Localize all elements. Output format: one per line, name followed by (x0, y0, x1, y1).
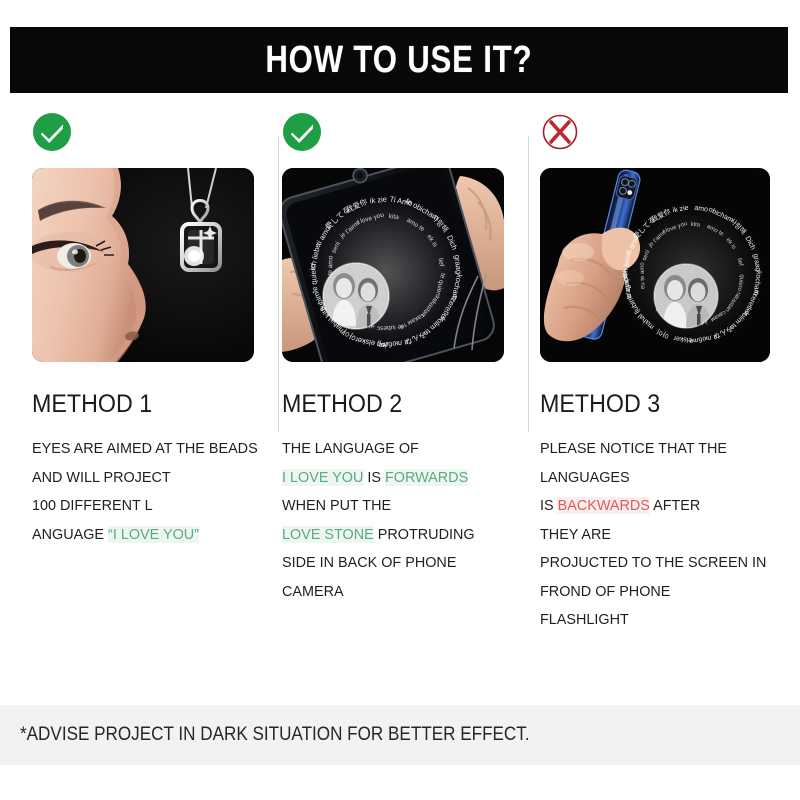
method-column-3: te quiero ich liebe ti amo 愛してる 我爱你 ik z… (516, 112, 800, 690)
plain-text: WHEN PUT THE (282, 497, 391, 514)
plain-text: THE LANGUAGE OF (282, 440, 419, 457)
header-banner: HOW TO USE IT? (10, 27, 788, 93)
photo-method-2: te quiero ich liebe ti amo 愛してる 我爱你 ik z… (282, 168, 504, 362)
method-text-line: PLEASE NOTICE THAT THE (540, 435, 790, 464)
plain-text: ANGUAGE (32, 526, 108, 543)
plain-text: IS (363, 469, 385, 486)
method-text-line: FROND OF PHONE (540, 578, 790, 607)
method-text-line: FLASHLIGHT (540, 606, 790, 635)
plain-text: CAMERA (282, 583, 344, 600)
method-column-2: te quiero ich liebe ti amo 愛してる 我爱你 ik z… (258, 112, 516, 690)
plain-text: IS (540, 497, 558, 514)
highlight-red-text: BACKWARDS (558, 497, 650, 514)
method-text-line: EYES ARE AIMED AT THE BEADS (32, 435, 249, 464)
svg-text:eu te amo: eu te amo (640, 262, 647, 290)
footer-note: *ADVISE PROJECT IN DARK SITUATION FOR BE… (20, 724, 530, 746)
method-3-title: METHOD 3 (540, 390, 782, 419)
photo-method-3: te quiero ich liebe ti amo 愛してる 我爱你 ik z… (540, 168, 770, 362)
photo-method-1 (32, 168, 254, 362)
method-2-lines: THE LANGUAGE OFI LOVE YOU IS FORWARDSWHE… (282, 435, 516, 606)
method-1-title: METHOD 1 (32, 390, 242, 419)
method-column-1: METHOD 1 EYES ARE AIMED AT THE BEADSAND … (0, 112, 258, 690)
plain-text: SIDE IN BACK OF PHONE (282, 554, 456, 571)
method-3-lines: PLEASE NOTICE THAT THELANGUAGESIS BACKWA… (540, 435, 800, 635)
infographic-page: HOW TO USE IT? (0, 0, 800, 800)
footer-banner: *ADVISE PROJECT IN DARK SITUATION FOR BE… (0, 705, 800, 765)
plain-text: 100 DIFFERENT L (32, 497, 153, 514)
method-text-line: WHEN PUT THE (282, 492, 507, 521)
plain-text: AFTER (650, 497, 700, 514)
method-text-line: IS BACKWARDS AFTER (540, 492, 790, 521)
plain-text: PROTRUDING (374, 526, 475, 543)
method-2-title: METHOD 2 (282, 390, 500, 419)
svg-text:lief: lief (436, 258, 444, 268)
highlight-green-text: FORWARDS (385, 469, 468, 486)
method-text-line: LANGUAGES (540, 464, 790, 493)
green-check-icon (32, 112, 72, 152)
page-title: HOW TO USE IT? (265, 39, 532, 82)
plain-text: PLEASE NOTICE THAT THE (540, 440, 727, 457)
method-text-line: THE LANGUAGE OF (282, 435, 507, 464)
svg-text:kita: kita (691, 222, 701, 229)
plain-text: EYES ARE AIMED AT THE BEADS (32, 440, 258, 457)
svg-text:ik zie: ik zie (369, 195, 387, 206)
method-text-line: I LOVE YOU IS FORWARDS (282, 464, 507, 493)
plain-text: AND WILL PROJECT (32, 469, 171, 486)
method-text-line: 100 DIFFERENT L (32, 492, 249, 521)
method-columns: METHOD 1 EYES ARE AIMED AT THE BEADSAND … (0, 112, 800, 690)
svg-text:kita: kita (388, 213, 399, 221)
red-x-icon (540, 112, 580, 152)
plain-text: LANGUAGES (540, 469, 630, 486)
plain-text: FLASHLIGHT (540, 611, 629, 628)
method-text-line: ANGUAGE “I LOVE YOU” (32, 521, 249, 550)
plain-text: THEY ARE (540, 526, 611, 543)
method-text-line: THEY ARE (540, 521, 790, 550)
plain-text: FROND OF PHONE (540, 583, 670, 600)
method-text-line: PROJUCTED TO THE SCREEN IN (540, 549, 790, 578)
highlight-green-text: I LOVE YOU (282, 469, 363, 486)
method-1-lines: EYES ARE AIMED AT THE BEADSAND WILL PROJ… (32, 435, 258, 549)
method-text-line: LOVE STONE PROTRUDING (282, 521, 507, 550)
plain-text: PROJUCTED TO THE SCREEN IN (540, 554, 766, 571)
green-check-icon (282, 112, 322, 152)
method-text-line: AND WILL PROJECT (32, 464, 249, 493)
method-text-line: SIDE IN BACK OF PHONE (282, 549, 507, 578)
highlight-green-text: LOVE STONE (282, 526, 374, 543)
highlight-green-text: “I LOVE YOU” (108, 526, 199, 543)
method-text-line: CAMERA (282, 578, 507, 607)
